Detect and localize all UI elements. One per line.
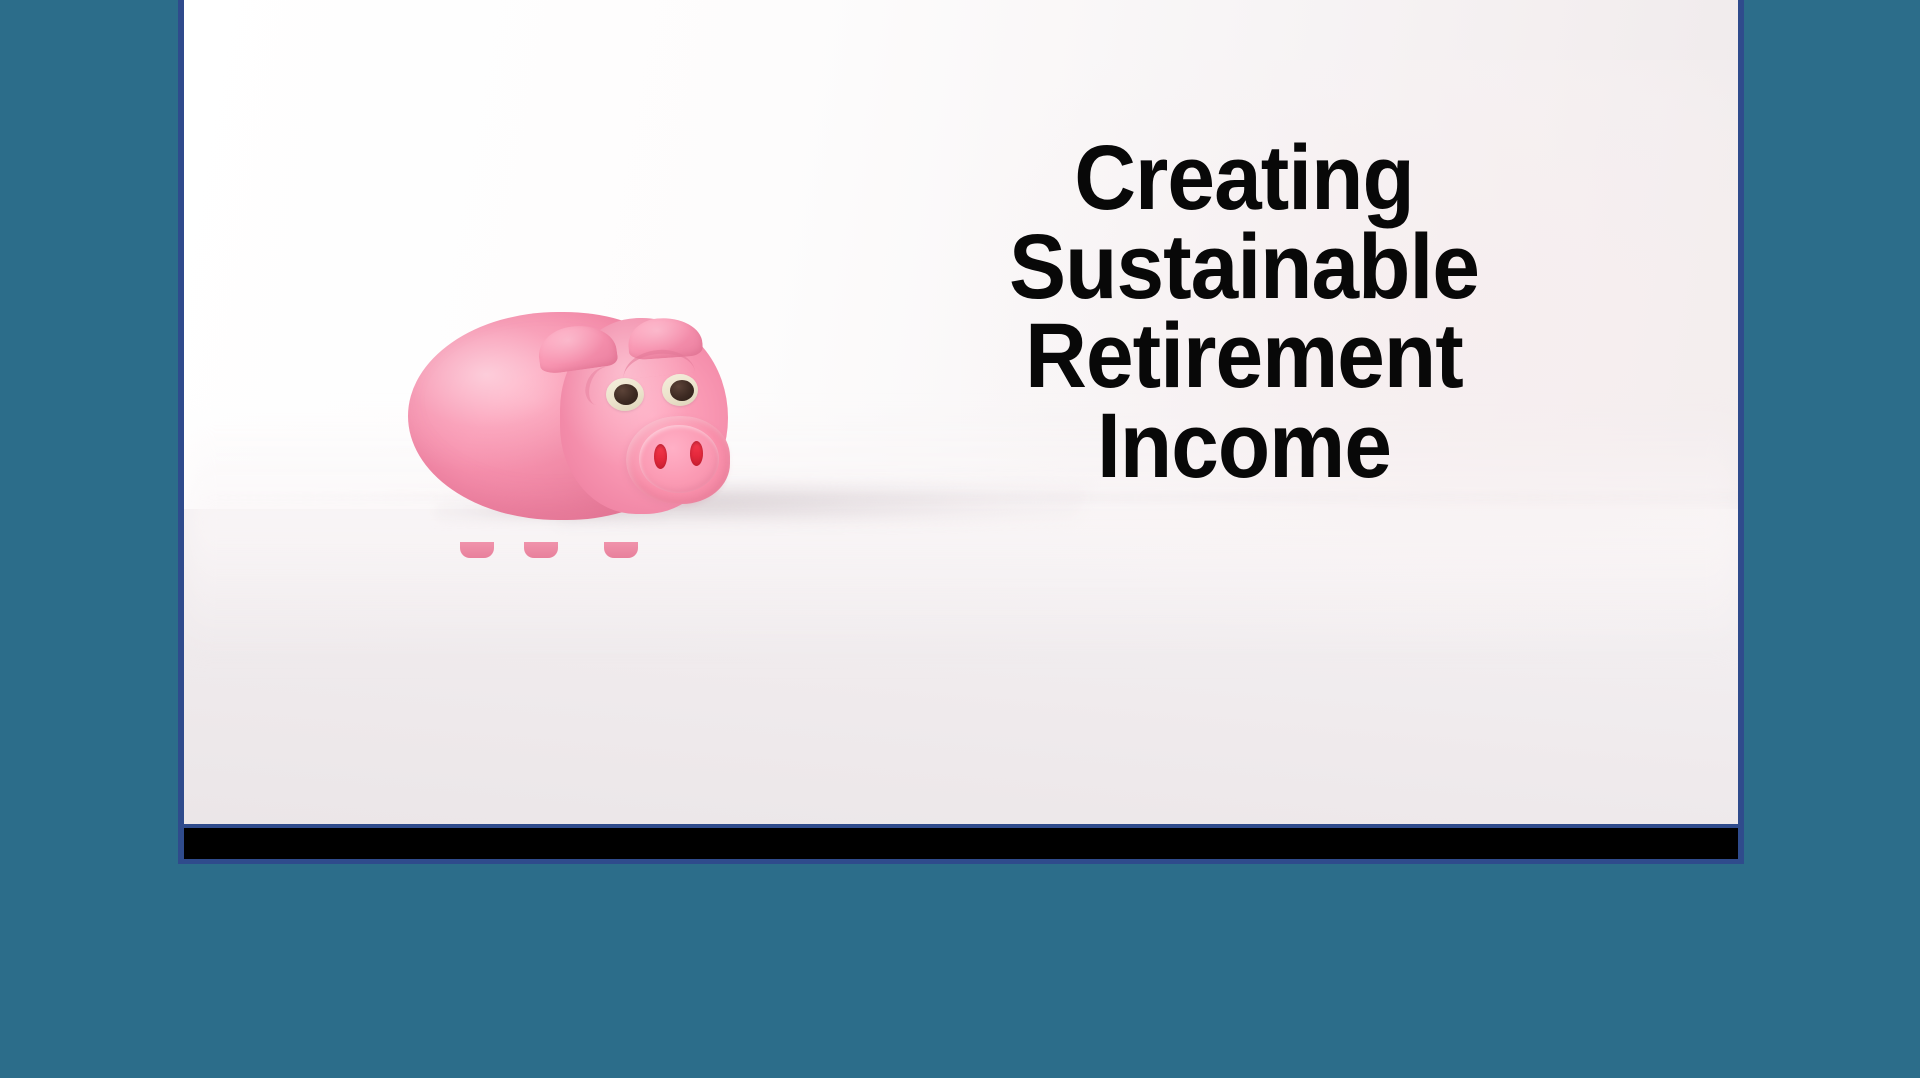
slide-canvas[interactable]: Creating Sustainable Retirement Income: [184, 0, 1738, 824]
piggy-bank-pupil-right: [670, 380, 694, 401]
slide-title-line-1: Creating: [909, 134, 1579, 223]
piggy-bank-foot: [604, 542, 638, 558]
slide-title-line-2: Sustainable: [909, 223, 1579, 312]
piggy-bank-pupil-left: [614, 384, 638, 405]
piggy-bank-nostril-left: [654, 444, 667, 469]
piggy-bank-image: [408, 304, 728, 554]
piggy-bank-eye-left: [606, 378, 644, 411]
slide-title-line-3: Retirement: [909, 312, 1579, 401]
piggy-bank-foot: [524, 542, 558, 558]
presentation-viewport: Creating Sustainable Retirement Income: [0, 0, 1920, 1078]
piggy-bank-snout: [626, 416, 730, 504]
piggy-bank-nostril-right: [690, 441, 703, 466]
slide-footer-bar: [184, 828, 1738, 859]
slide-title[interactable]: Creating Sustainable Retirement Income: [909, 134, 1579, 491]
piggy-bank-snout-disc: [639, 425, 719, 493]
slide-frame[interactable]: Creating Sustainable Retirement Income: [178, 0, 1744, 864]
piggy-bank-eye-right: [662, 374, 698, 406]
slide-title-line-4: Income: [909, 402, 1579, 491]
piggy-bank-foot: [460, 542, 494, 558]
